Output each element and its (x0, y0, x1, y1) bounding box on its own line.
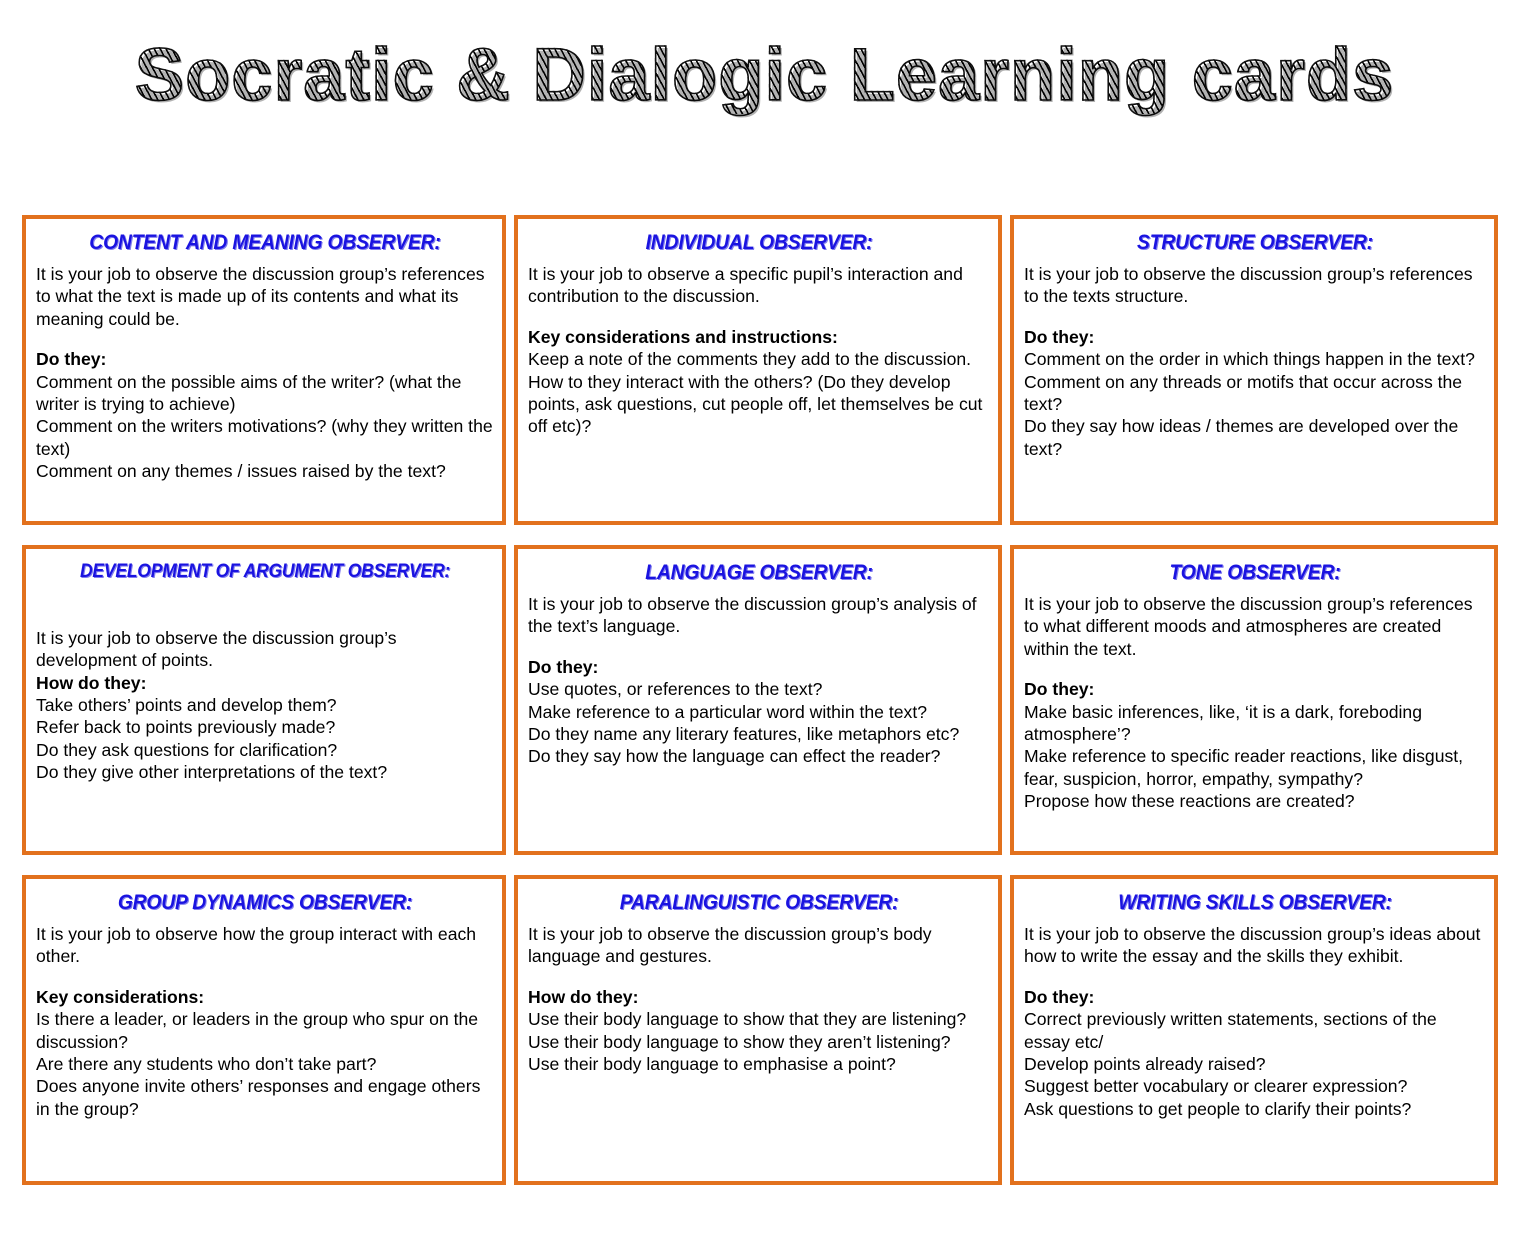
card-point: Do they say how ideas / themes are devel… (1024, 415, 1486, 460)
card-lead-in: Do they: (1024, 326, 1486, 348)
card-intro: It is your job to observe a specific pup… (528, 263, 990, 308)
paragraph-spacer (1024, 308, 1486, 326)
card-title: GROUP DYNAMICS OBSERVER: (54, 891, 475, 915)
paragraph-spacer (528, 308, 990, 326)
card-body: It is your job to observe how the group … (36, 923, 494, 1120)
learning-cards-grid: CONTENT AND MEANING OBSERVER: It is your… (22, 215, 1498, 1185)
card-body: It is your job to observe the discussion… (528, 593, 990, 767)
card-title: PARALINGUISTIC OBSERVER: (546, 891, 971, 915)
paragraph-spacer (1024, 968, 1486, 986)
card-point: Refer back to points previously made? (36, 716, 494, 738)
card-lead-in: Do they: (1024, 986, 1486, 1008)
card-point: Are there any students who don’t take pa… (36, 1053, 494, 1075)
card-tone-observer: TONE OBSERVER: It is your job to observe… (1010, 545, 1498, 855)
card-point: Use their body language to show that the… (528, 1008, 990, 1030)
card-body: It is your job to observe the discussion… (1024, 923, 1486, 1120)
card-point: Comment on any themes / issues raised by… (36, 460, 494, 482)
card-point: Make reference to specific reader reacti… (1024, 745, 1486, 790)
card-body: It is your job to observe the discussion… (1024, 593, 1486, 812)
card-writing-skills-observer: WRITING SKILLS OBSERVER: It is your job … (1010, 875, 1498, 1185)
card-intro: It is your job to observe the discussion… (36, 627, 494, 672)
card-point: Comment on any threads or motifs that oc… (1024, 371, 1486, 416)
card-intro: It is your job to observe how the group … (36, 923, 494, 968)
card-point: Use their body language to show they are… (528, 1031, 990, 1053)
card-point: Is there a leader, or leaders in the gro… (36, 1008, 494, 1053)
card-point: Do they give other interpretations of th… (36, 761, 494, 783)
card-point: Make reference to a particular word with… (528, 701, 990, 723)
card-title: CONTENT AND MEANING OBSERVER: (54, 231, 475, 255)
card-body: It is your job to observe the discussion… (36, 263, 494, 482)
page-title: Socratic & Dialogic Learning cards (135, 36, 1394, 114)
card-body: It is your job to observe the discussion… (1024, 263, 1486, 460)
card-point: Comment on the writers motivations? (why… (36, 415, 494, 460)
card-point: Do they ask questions for clarification? (36, 739, 494, 761)
card-content-and-meaning-observer: CONTENT AND MEANING OBSERVER: It is your… (22, 215, 506, 525)
card-lead-in: Do they: (528, 656, 990, 678)
card-intro: It is your job to observe the discussion… (528, 923, 990, 968)
card-point: Suggest better vocabulary or clearer exp… (1024, 1075, 1486, 1097)
paragraph-spacer (36, 330, 494, 348)
card-point: Ask questions to get people to clarify t… (1024, 1098, 1486, 1120)
card-intro: It is your job to observe the discussion… (528, 593, 990, 638)
card-lead-in: Key considerations: (36, 986, 494, 1008)
card-title: TONE OBSERVER: (1042, 561, 1467, 585)
card-point: Does anyone invite others’ responses and… (36, 1075, 494, 1120)
card-point: Take others’ points and develop them? (36, 694, 494, 716)
card-point: Use their body language to emphasise a p… (528, 1053, 990, 1075)
card-lead-in: Key considerations and instructions: (528, 326, 990, 348)
card-body: It is your job to observe the discussion… (528, 923, 990, 1075)
card-point: Keep a note of the comments they add to … (528, 348, 990, 370)
card-paralinguistic-observer: PARALINGUISTIC OBSERVER: It is your job … (514, 875, 1002, 1185)
card-lead-in: How do they: (528, 986, 990, 1008)
card-title: LANGUAGE OBSERVER: (546, 561, 971, 585)
card-title: DEVELOPMENT OF ARGUMENT OBSERVER: (54, 561, 475, 583)
card-group-dynamics-observer: GROUP DYNAMICS OBSERVER: It is your job … (22, 875, 506, 1185)
card-intro: It is your job to observe the discussion… (1024, 593, 1486, 660)
card-body: It is your job to observe the discussion… (36, 627, 494, 783)
card-intro: It is your job to observe the discussion… (1024, 923, 1486, 968)
card-intro: It is your job to observe the discussion… (36, 263, 494, 330)
card-title: WRITING SKILLS OBSERVER: (1042, 891, 1467, 915)
page-title-container: Socratic & Dialogic Learning cards (0, 36, 1529, 114)
paragraph-spacer (528, 968, 990, 986)
paragraph-spacer (528, 638, 990, 656)
card-point: Correct previously written statements, s… (1024, 1008, 1486, 1053)
card-title: INDIVIDUAL OBSERVER: (546, 231, 971, 255)
card-language-observer: LANGUAGE OBSERVER: It is your job to obs… (514, 545, 1002, 855)
card-point: Make basic inferences, like, ‘it is a da… (1024, 701, 1486, 746)
card-point: Comment on the possible aims of the writ… (36, 371, 494, 416)
card-intro: It is your job to observe the discussion… (1024, 263, 1486, 308)
card-individual-observer: INDIVIDUAL OBSERVER: It is your job to o… (514, 215, 1002, 525)
card-point: Use quotes, or references to the text? (528, 678, 990, 700)
card-title: STRUCTURE OBSERVER: (1042, 231, 1467, 255)
card-point: Develop points already raised? (1024, 1053, 1486, 1075)
card-lead-in: How do they: (36, 672, 494, 694)
card-point: Propose how these reactions are created? (1024, 790, 1486, 812)
card-point: Do they name any literary features, like… (528, 723, 990, 745)
card-lead-in: Do they: (36, 348, 494, 370)
card-point: Do they say how the language can effect … (528, 745, 990, 767)
card-point: Comment on the order in which things hap… (1024, 348, 1486, 370)
card-structure-observer: STRUCTURE OBSERVER: It is your job to ob… (1010, 215, 1498, 525)
card-point: How to they interact with the others? (D… (528, 371, 990, 438)
paragraph-spacer (1024, 660, 1486, 678)
card-development-of-argument-observer: DEVELOPMENT OF ARGUMENT OBSERVER: It is … (22, 545, 506, 855)
card-lead-in: Do they: (1024, 678, 1486, 700)
paragraph-spacer (36, 968, 494, 986)
card-body: It is your job to observe a specific pup… (528, 263, 990, 437)
